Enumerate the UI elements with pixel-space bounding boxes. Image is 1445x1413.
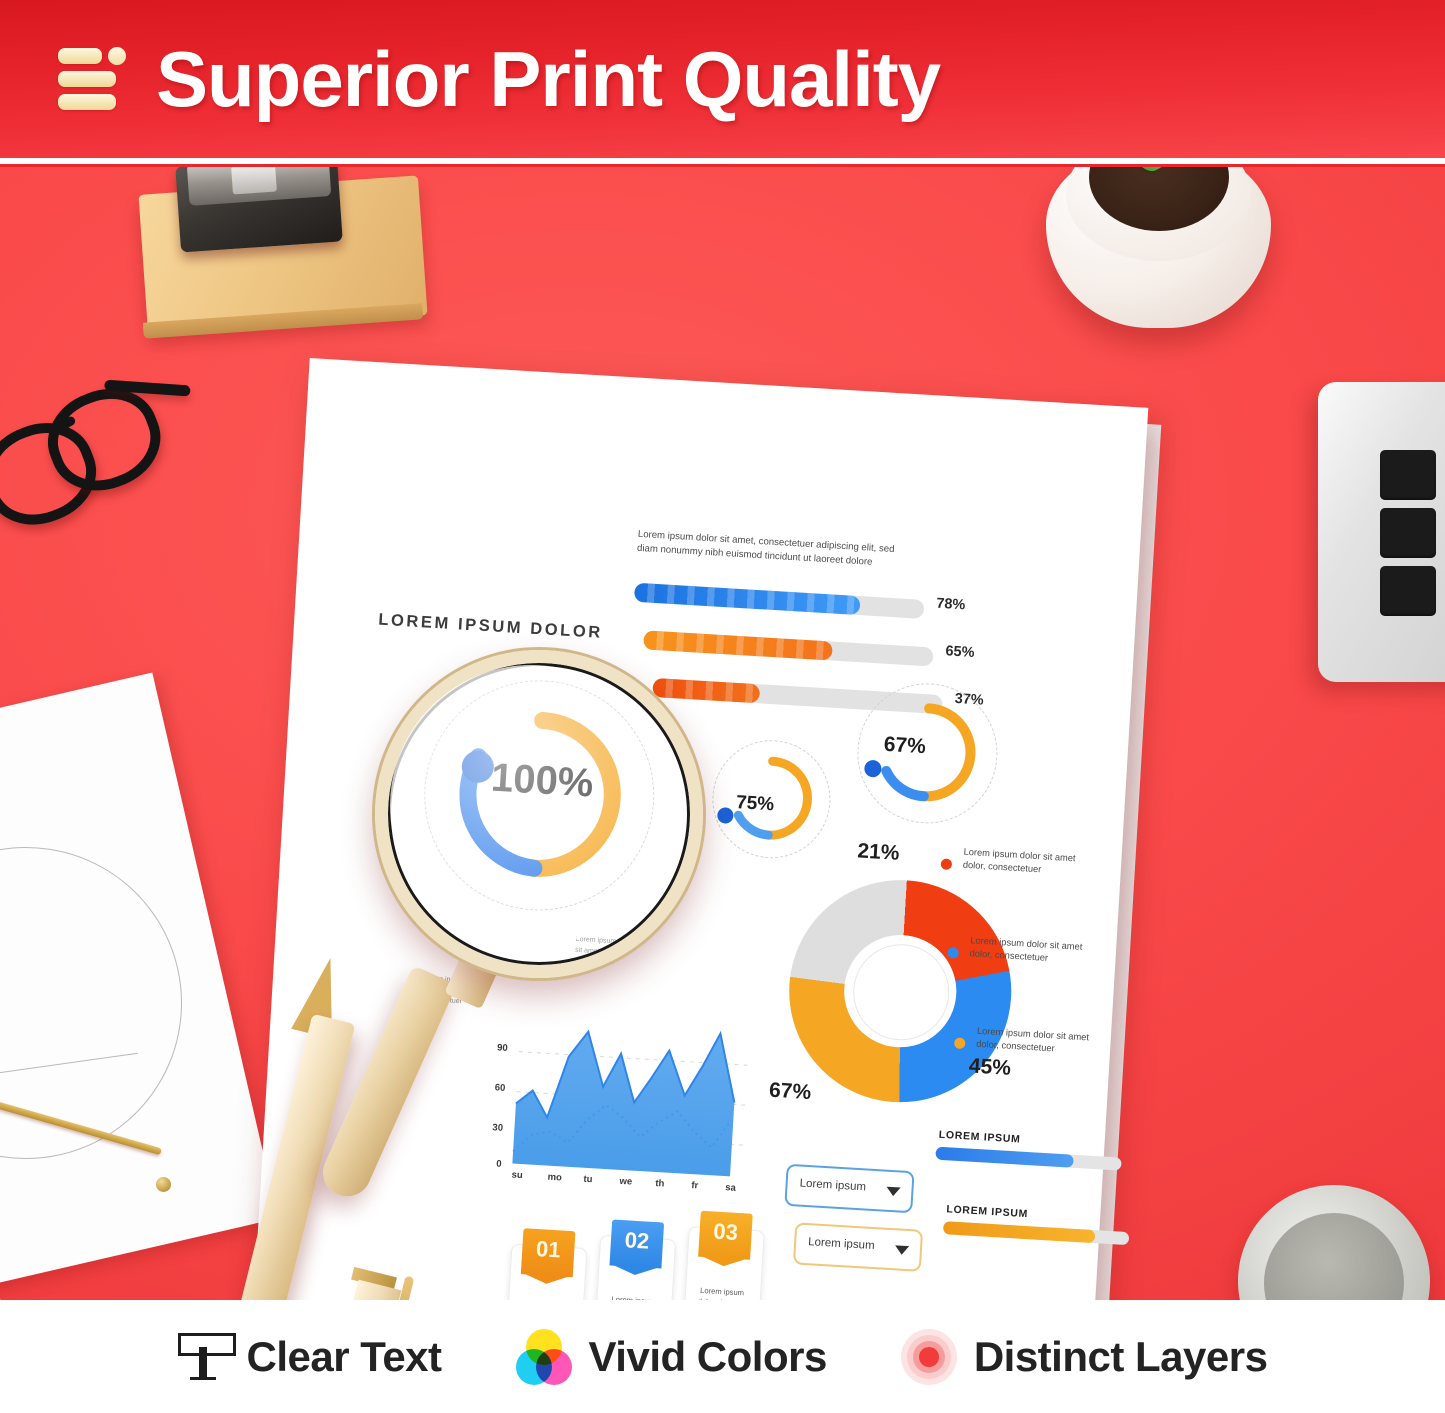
dropdown-1-value: Lorem ipsum: [799, 1178, 866, 1194]
eyeglasses: [0, 381, 200, 538]
progress-label-2: LOREM IPSUM: [946, 1203, 1028, 1220]
y-tick-30: 30: [492, 1122, 503, 1134]
y-tick-90: 90: [497, 1042, 508, 1054]
horizontal-bar-chart: 78% 65% 37%: [310, 358, 1149, 408]
feature-bar: Clear Text Vivid Colors Distinct Layers: [0, 1300, 1445, 1413]
step-text-03: Lorem ipsum dolor sit amet, consectetuer: [691, 1284, 751, 1300]
dropdown-2-value: Lorem ipsum: [808, 1236, 875, 1252]
donut-chart: 21% 45% 67% Lorem ipsum dolor sit amet d…: [310, 358, 1149, 408]
bar-fill-1: [634, 583, 861, 615]
x-tick-fr: fr: [691, 1180, 699, 1191]
gauge-67: 67%: [310, 358, 1149, 408]
feature-label-3: Distinct Layers: [974, 1333, 1268, 1381]
intro-paragraph: Lorem ipsum dolor sit amet, consectetuer…: [637, 528, 900, 571]
progress-fill-2: [943, 1221, 1096, 1243]
laptop: [1318, 382, 1445, 682]
progress-fill-1: [935, 1147, 1074, 1168]
gauge-75: 75%: [310, 358, 1149, 408]
x-tick-we: we: [619, 1176, 632, 1188]
y-tick-60: 60: [494, 1082, 505, 1094]
chevron-down-icon[interactable]: [895, 1245, 910, 1255]
dropdown-2[interactable]: Lorem ipsum: [793, 1222, 923, 1272]
magnifier-inner-ring: [390, 665, 672, 947]
feature-distinct-layers: Distinct Layers: [901, 1329, 1268, 1385]
step-cards: 01 Lorem ipsum dolor sit amet, consectet…: [310, 358, 1149, 408]
x-tick-sa: sa: [725, 1182, 736, 1194]
gauge-100: 100%: [310, 358, 1149, 408]
header-banner: Superior Print Quality: [0, 0, 1445, 158]
step-number-02: 02: [610, 1226, 663, 1255]
gauge-67-value: 67%: [883, 733, 926, 759]
feature-vivid-colors: Vivid Colors: [516, 1329, 827, 1385]
stacked-bars-icon: [54, 42, 128, 116]
step-ribbon-02: 02: [609, 1219, 664, 1278]
progress-label-1: LOREM IPSUM: [938, 1129, 1020, 1146]
concentric-layers-icon: [901, 1329, 957, 1385]
text-format-icon: [178, 1329, 230, 1385]
bar-value-1: 78%: [936, 596, 966, 614]
gauge-75-value: 75%: [735, 792, 774, 816]
bar-fill-3: [652, 678, 760, 703]
donut-label-67: 67%: [768, 1079, 811, 1105]
x-tick-su: su: [511, 1169, 523, 1181]
step-ribbon-01: 01: [520, 1228, 575, 1287]
dropdown-1[interactable]: Lorem ipsum: [784, 1164, 914, 1214]
desk-background: LOREM IPSUM DOLOR Lorem ipsum dolor sit …: [0, 167, 1445, 1300]
chevron-down-icon[interactable]: [886, 1187, 901, 1197]
feature-label-1: Clear Text: [247, 1333, 442, 1381]
step-number-03: 03: [699, 1218, 752, 1247]
step-number-01: 01: [522, 1235, 575, 1264]
donut-label-21: 21%: [857, 839, 900, 865]
legend-dot-1: [941, 858, 953, 870]
stapler-slot: [231, 167, 277, 195]
feature-label-2: Vivid Colors: [589, 1333, 827, 1381]
feature-clear-text: Clear Text: [178, 1329, 442, 1385]
legend-label-1: Lorem ipsum dolor sit amet dolor, consec…: [962, 846, 1095, 881]
header-title: Superior Print Quality: [156, 40, 940, 118]
x-tick-mo: mo: [547, 1172, 562, 1184]
page-title: LOREM IPSUM DOLOR: [378, 611, 604, 643]
donut-label-45: 45%: [968, 1054, 1011, 1080]
x-tick-tu: tu: [583, 1174, 593, 1186]
step-ribbon-03: 03: [698, 1211, 753, 1270]
color-wheel-icon: [516, 1329, 572, 1385]
area-chart: 90 60 30 0 su mo tu we th fr sa: [489, 1010, 761, 1197]
y-tick-0: 0: [496, 1159, 502, 1170]
progress-bars: LOREM IPSUM LOREM IPSUM: [310, 358, 1149, 408]
promo-banner-image: Superior Print Quality: [0, 0, 1445, 1413]
x-tick-th: th: [655, 1178, 665, 1190]
compass-tip: [156, 1177, 171, 1192]
bar-fill-2: [643, 630, 833, 660]
bar-value-2: 65%: [945, 643, 975, 661]
